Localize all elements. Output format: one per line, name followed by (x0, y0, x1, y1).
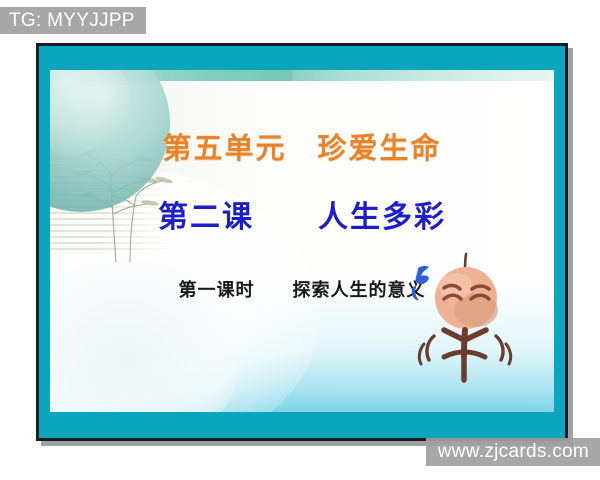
watermark-bottom-right: www.zjcards.com (426, 438, 600, 466)
slide-canvas: 第五单元 珍爱生命 第二课 人生多彩 第一课时 探索人生的意义 (50, 70, 554, 412)
right-arm (465, 330, 486, 340)
watermark-bottom-right-text: www.zjcards.com (438, 441, 589, 463)
watermark-top-left-text: TG: MYYJJPP (9, 10, 135, 32)
left-arm (444, 330, 464, 340)
music-note-icon (412, 266, 429, 300)
peach-character-illustration (404, 244, 526, 384)
right-lower-arm (465, 352, 485, 357)
left-lower-arm (444, 352, 464, 357)
slide-frame: 第五单元 珍爱生命 第二课 人生多彩 第一课时 探索人生的意义 (36, 43, 568, 441)
watermark-top-left: TG: MYYJJPP (0, 7, 146, 34)
